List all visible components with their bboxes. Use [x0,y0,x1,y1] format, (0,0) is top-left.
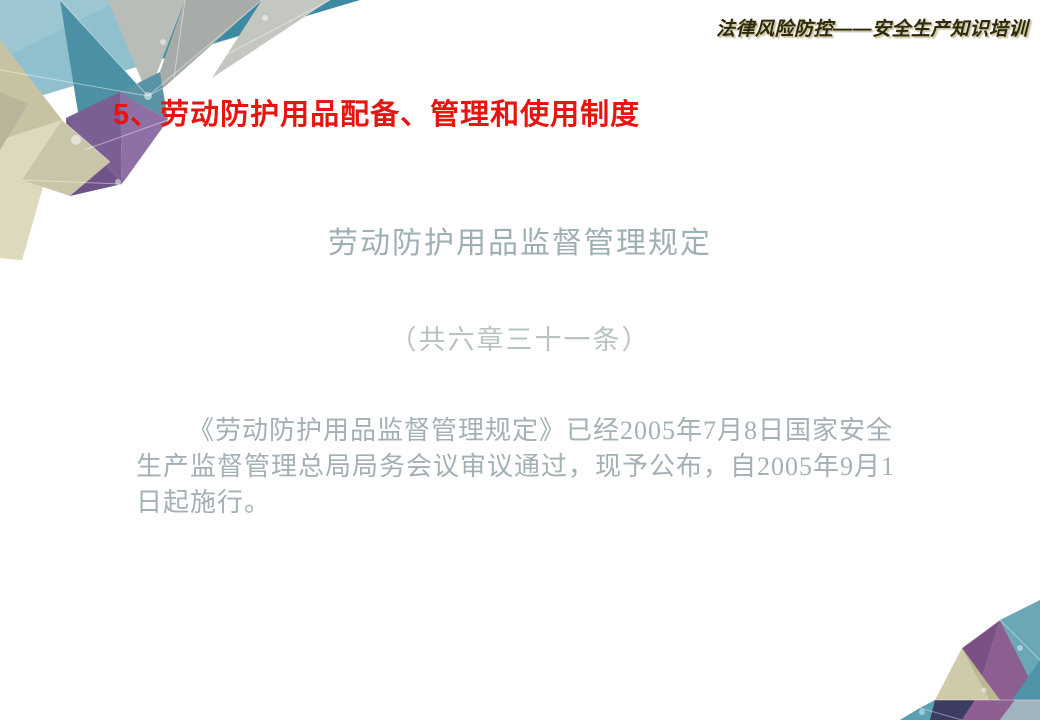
poly-br-beige-right [962,648,1000,700]
page-title: 5、劳动防护用品配备、管理和使用制度 [113,91,640,133]
poly-teal-pale-corner [0,0,120,60]
poly-br-navy [930,700,975,720]
poly-br-teal-low [900,708,962,720]
poly-br-purple-main [975,620,1040,700]
poly-br-grey-low [1000,700,1040,720]
body-line-3: 日起施行。 [136,485,944,521]
poly-grey-wedge-3 [212,0,330,78]
poly-grey-wedge-2 [150,0,262,100]
poly-grey-wedge [108,0,185,96]
poly-br-beige-left [935,648,990,700]
poly-br-purple-dark [962,620,1000,700]
poly-br-teal-edge [1012,660,1040,700]
header-banner-title: 法律风险防控——安全生产知识培训 [716,14,1028,41]
poly-br-connector-lines [920,620,1040,720]
poly-beige-dark [0,92,28,150]
poly-br-purple-low [962,700,1015,720]
poly-br-beige-base [920,700,990,720]
poly-br-node-dots [919,645,1023,715]
poly-beige-mid [22,120,110,196]
poly-beige-upper [0,40,62,140]
poly-br-teal-right-2 [1000,600,1040,700]
body-line-1: 《劳动防护用品监督管理规定》已经2005年7月8日国家安全 [136,413,944,449]
regulation-name: 劳动防护用品监督管理规定 [0,218,1040,262]
polygon-cluster-bottom-right [900,600,1040,720]
slide-canvas: 法律风险防控——安全生产知识培训 5、劳动防护用品配备、管理和使用制度 劳动防护… [0,0,1040,720]
poly-br-teal-low-2 [900,700,940,720]
body-line-2: 生产监督管理总局局务会议审议通过，现予公布，自2005年9月1 [136,449,944,485]
body-paragraph: 《劳动防护用品监督管理规定》已经2005年7月8日国家安全 生产监督管理总局局务… [136,413,944,521]
poly-teal-dark-sweep [120,0,360,62]
poly-br-teal-right [1000,600,1040,700]
regulation-structure: （共六章三十一条） [0,318,1040,357]
